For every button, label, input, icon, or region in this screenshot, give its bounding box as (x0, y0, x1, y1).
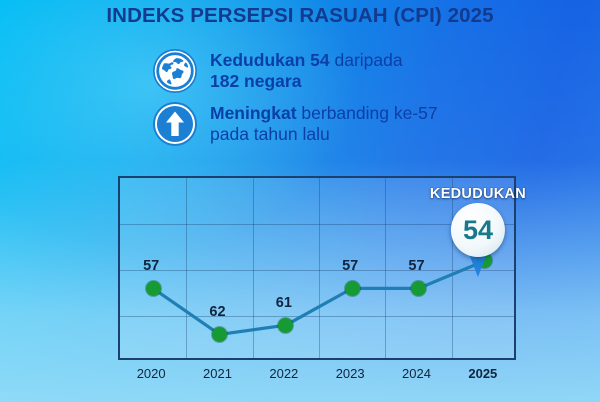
bullet-rest-text: berbanding ke-57 (297, 103, 438, 123)
pin-caption-label: KEDUDUKAN (430, 186, 526, 202)
data-point (345, 281, 360, 296)
globe-icon (152, 48, 198, 94)
x-axis-tick-label: 2024 (382, 366, 452, 381)
bullet-rest-text: daripada (330, 50, 403, 70)
x-axis-tick-label: 2020 (116, 366, 186, 381)
data-point-label: 57 (342, 258, 358, 274)
pin-value-label: 54 (463, 217, 493, 244)
up-arrow-icon (152, 101, 198, 147)
x-axis-tick-label: 2023 (315, 366, 385, 381)
x-axis-tick-label: 2025 (448, 366, 518, 381)
list-item-label: Kedudukan 54 daripada 182 negara (210, 48, 403, 92)
data-point (411, 281, 426, 296)
data-point-label: 57 (408, 258, 424, 274)
data-point (212, 327, 227, 342)
bullet-line2-text: pada tahun lalu (210, 124, 330, 144)
x-axis-tick-label: 2022 (249, 366, 319, 381)
bullet-strong-text: Meningkat (210, 103, 297, 123)
infographic-root: INDEKS PERSEPSI RASUAH (CPI) 2025 (0, 0, 600, 402)
pin-circle: 54 (451, 203, 505, 257)
bullet-strong-text: Kedudukan 54 (210, 50, 330, 70)
list-item: Kedudukan 54 daripada 182 negara (152, 48, 438, 94)
pin-body: 54 (448, 203, 508, 277)
bullet-list: Kedudukan 54 daripada 182 negara Meningk… (152, 48, 438, 154)
x-axis-tick-label: 2021 (183, 366, 253, 381)
data-point-label: 61 (276, 295, 292, 311)
data-point-label: 57 (143, 258, 159, 274)
list-item-label: Meningkat berbanding ke-57 pada tahun la… (210, 101, 438, 145)
list-item: Meningkat berbanding ke-57 pada tahun la… (152, 101, 438, 147)
data-point (146, 281, 161, 296)
page-title: INDEKS PERSEPSI RASUAH (CPI) 2025 (0, 4, 600, 28)
kedudukan-marker-pin: KEDUDUKAN 54 (430, 186, 526, 277)
bullet-line2-text: 182 negara (210, 71, 301, 91)
data-point-label: 62 (209, 304, 225, 320)
data-point (278, 318, 293, 333)
